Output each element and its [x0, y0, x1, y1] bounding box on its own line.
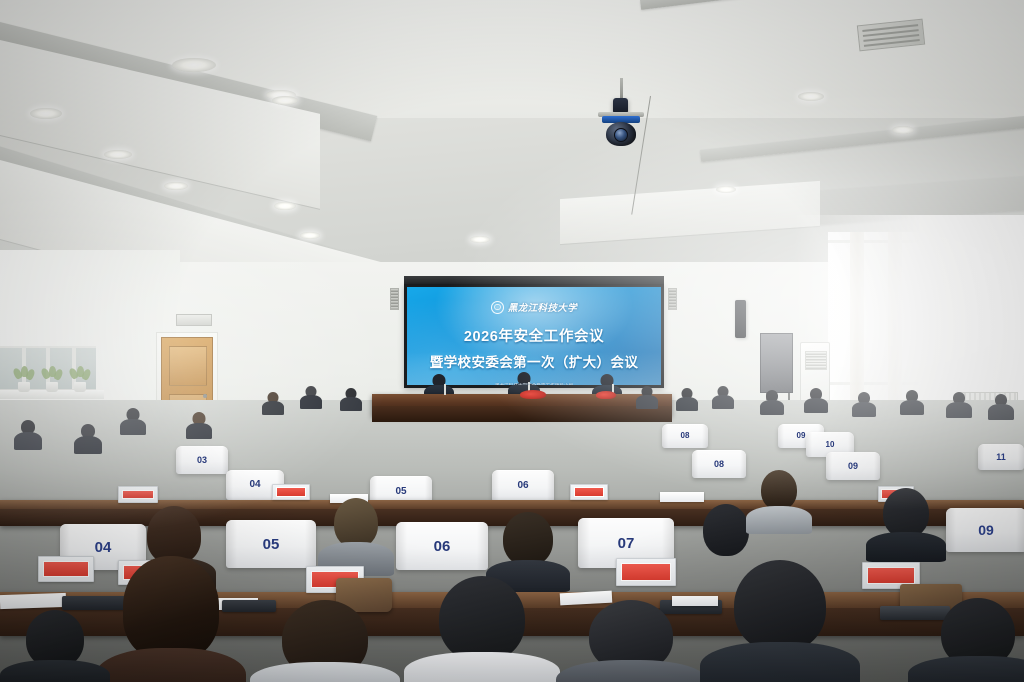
foreground-attendee — [556, 600, 706, 682]
seat-number: 10 — [826, 441, 835, 449]
seat-number: 06 — [434, 539, 451, 554]
wall-speaker-icon — [735, 300, 746, 338]
door-knob-icon[interactable] — [203, 394, 207, 398]
ac-grill-icon — [805, 351, 827, 370]
seat-11: 11 — [978, 444, 1024, 470]
downlight-icon — [164, 182, 188, 190]
seat-number: 03 — [197, 456, 207, 465]
attendee — [746, 470, 812, 530]
downlight-icon — [30, 108, 62, 119]
screen-speaker-right — [668, 288, 677, 310]
conference-room-photo: 黑龙江科技大学 2026年安全工作会议 暨学校安委会第一次（扩大）会议 黑龙江科… — [0, 0, 1024, 682]
seat-09-near: 09 — [946, 508, 1024, 552]
seat-number: 08 — [681, 432, 690, 440]
seat-number: 07 — [618, 536, 635, 551]
projector-lens-icon — [614, 128, 628, 142]
foreground-attendee — [700, 560, 860, 682]
name-placard — [38, 556, 94, 582]
downlight-icon — [274, 202, 296, 210]
seat-09-mid: 09 — [826, 452, 880, 480]
name-placard — [570, 484, 608, 500]
seat-number: 08 — [714, 460, 724, 469]
downlight-icon — [300, 232, 320, 239]
projector-mount — [620, 78, 623, 100]
slide-subtitle-line-1: 黑龙江科技大学安全稳定工作领导小组 — [495, 382, 573, 385]
downlight-icon — [892, 126, 914, 134]
seat-08-mid: 08 — [692, 450, 746, 478]
downlight-icon — [716, 186, 736, 193]
name-placard — [118, 486, 158, 503]
name-placard — [616, 558, 676, 586]
potted-plant — [40, 366, 64, 392]
slide-title-line-2: 暨学校安委会第一次（扩大）会议 — [430, 351, 639, 371]
foreground-attendee — [0, 610, 110, 682]
table-microphone — [444, 384, 446, 395]
seat-number: 05 — [395, 487, 406, 497]
meeting-document — [660, 492, 704, 502]
seat-number: 11 — [996, 453, 1006, 462]
foreground-attendee — [908, 598, 1024, 682]
seat-number: 09 — [978, 523, 994, 537]
floral-arrangement — [596, 391, 616, 399]
foreground-attendee — [96, 556, 246, 682]
downlight-icon — [272, 96, 298, 105]
floral-arrangement — [520, 390, 546, 399]
downlight-icon — [104, 150, 132, 159]
name-placard — [272, 484, 310, 500]
seat-03: 03 — [176, 446, 228, 474]
foreground-attendee — [404, 576, 560, 682]
downlight-icon — [172, 58, 216, 72]
seat-08-far: 08 — [662, 424, 708, 448]
seat-06-near: 06 — [396, 522, 488, 570]
attendee — [866, 488, 946, 558]
head-table-skirt — [372, 406, 672, 422]
university-emblem-icon — [491, 301, 504, 314]
seat-06: 06 — [492, 470, 554, 502]
screen-speaker-left — [390, 288, 399, 310]
seat-number: 09 — [848, 462, 858, 471]
meeting-document — [0, 593, 66, 609]
seat-number: 04 — [95, 540, 112, 555]
slide-title-line-1: 2026年安全工作会议 — [464, 325, 604, 346]
university-name: 黑龙江科技大学 — [508, 300, 577, 314]
attendee — [318, 498, 394, 572]
downlight-icon — [798, 92, 824, 101]
downlight-icon — [470, 236, 490, 243]
seat-number: 05 — [263, 537, 280, 552]
wall-sign — [176, 314, 212, 326]
potted-plant — [12, 366, 36, 392]
potted-plant — [68, 366, 92, 392]
seat-number: 09 — [797, 432, 806, 440]
foreground-attendee — [250, 600, 400, 682]
screen-branding: 黑龙江科技大学 — [491, 300, 577, 314]
seat-number: 04 — [249, 480, 260, 490]
equipment-cabinet — [760, 333, 793, 393]
seat-number: 06 — [517, 481, 528, 491]
